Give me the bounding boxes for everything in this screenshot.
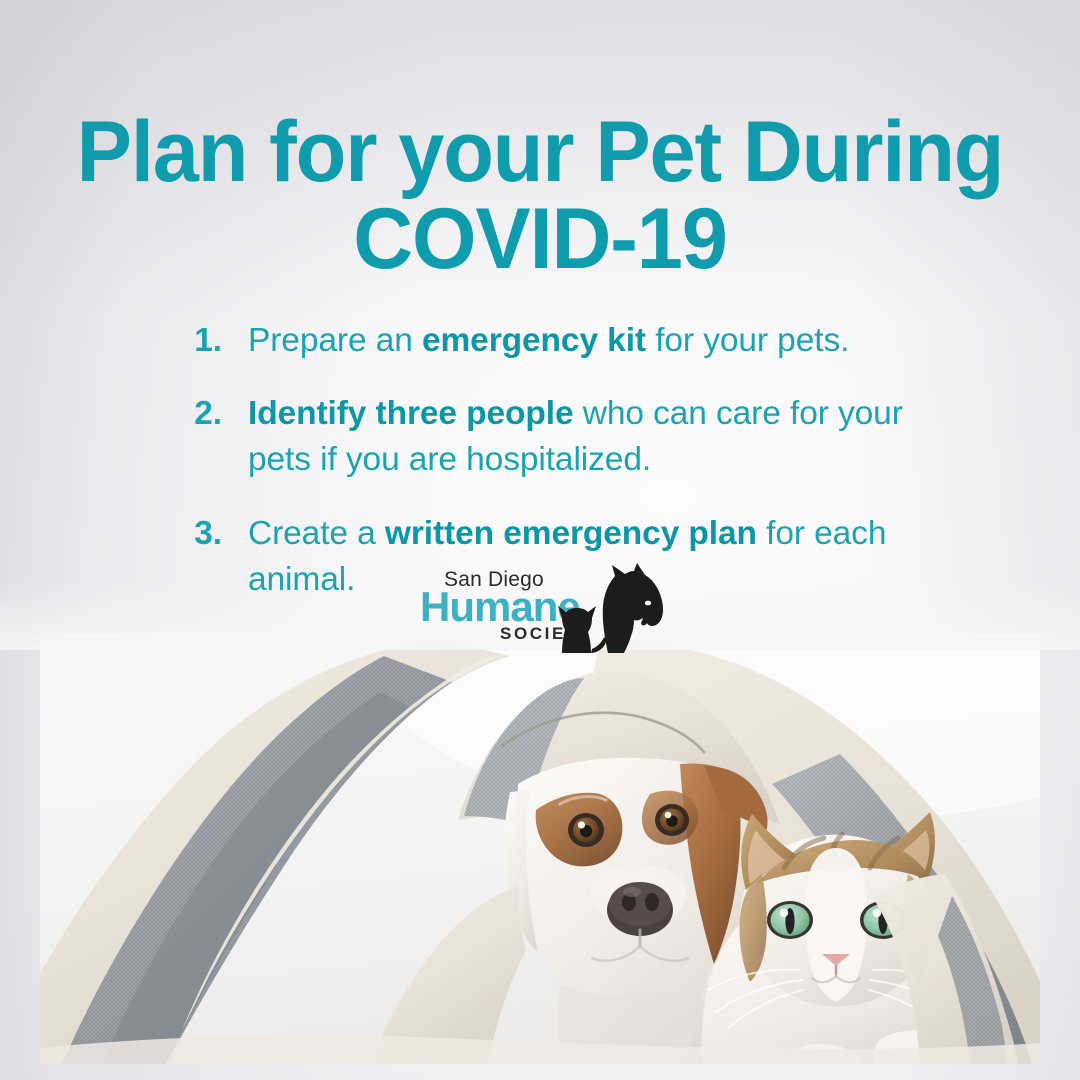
logo-humane-text: Humane	[420, 583, 580, 630]
step-text-plain: for your pets.	[646, 322, 849, 359]
step-number: 3.	[180, 511, 222, 557]
step-item: 2.Identify three people who can care for…	[180, 391, 940, 483]
step-number: 2.	[180, 391, 222, 437]
step-number: 1.	[180, 318, 222, 364]
poster-headline: Plan for your Pet During COVID-19	[19, 110, 1061, 282]
san-diego-humane-society-logo: San Diego Humane SOCIETY	[412, 563, 668, 655]
step-text-emphasis: written emergency plan	[385, 515, 757, 552]
step-text-plain: Create a	[248, 515, 385, 552]
step-text-emphasis: Identify three people	[248, 395, 574, 432]
headline-line-1: Plan for your Pet During	[19, 110, 1061, 195]
step-text-emphasis: emergency kit	[422, 322, 646, 359]
step-text-plain: Prepare an	[248, 322, 422, 359]
step-item: 1.Prepare an emergency kit for your pets…	[180, 318, 940, 364]
preparedness-steps-list: 1.Prepare an emergency kit for your pets…	[0, 318, 1080, 603]
dog-and-cat-photo	[40, 634, 1040, 1064]
headline-line-2: COVID-19	[19, 197, 1061, 282]
step-text: Prepare an emergency kit for your pets.	[196, 318, 940, 364]
step-text: Identify three people who can care for y…	[196, 391, 940, 483]
poster-canvas: Plan for your Pet During COVID-19 1.Prep…	[0, 0, 1080, 1080]
